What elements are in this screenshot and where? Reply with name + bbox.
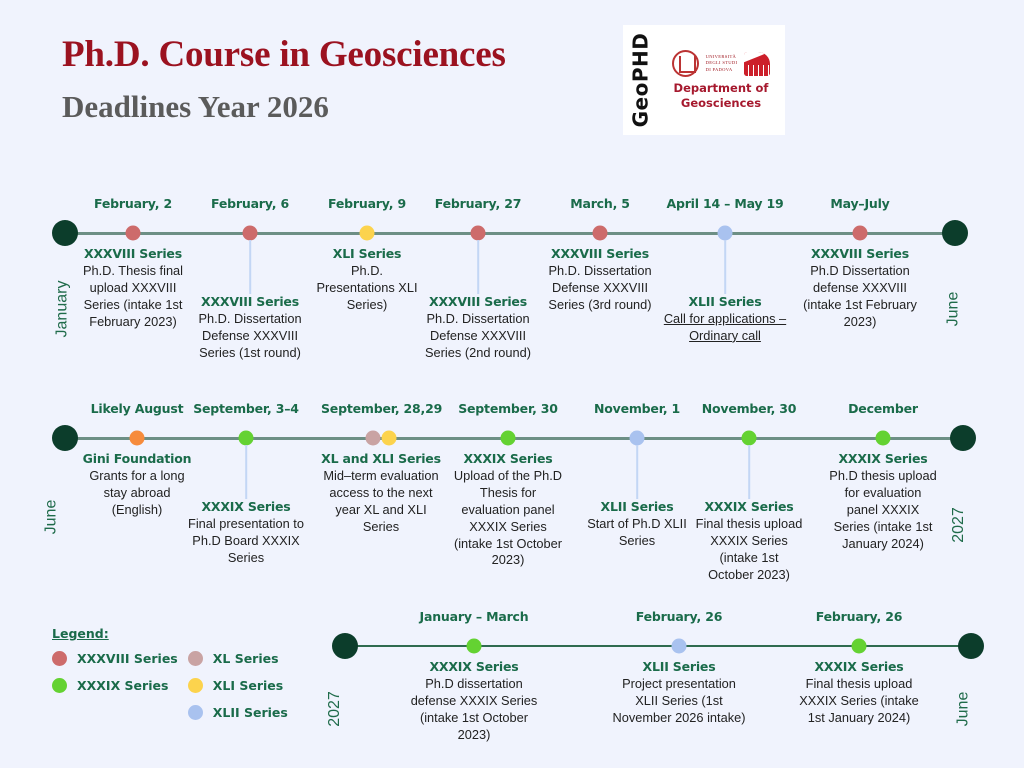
event-date-text: February, 9 xyxy=(313,196,421,211)
event-block: XXXIX SeriesFinal presentation to Ph.D B… xyxy=(182,499,310,567)
event-date-label: December xyxy=(828,401,938,416)
legend-column: XXXVIII SeriesXXXIX Series xyxy=(52,651,178,720)
timeline-dot[interactable] xyxy=(742,431,757,446)
timeline-start-marker xyxy=(52,220,78,246)
event-date-label: January – March xyxy=(407,609,541,624)
event-description: Grants for a long stay abroad (English) xyxy=(82,468,192,519)
event-series-label: XLI Series xyxy=(313,246,421,261)
legend-item-label: XL Series xyxy=(213,651,279,666)
event-connector-line xyxy=(748,445,750,499)
department-line-2: Geosciences xyxy=(674,96,769,110)
legend-column: XL SeriesXLI SeriesXLII Series xyxy=(188,651,288,720)
legend-swatch-xli xyxy=(188,678,203,693)
event-date-text: November, 30 xyxy=(695,401,803,416)
university-name-text: UNIVERSITÀ DEGLI STUDI DI PADOVA xyxy=(706,54,738,74)
event-block: Gini FoundationGrants for a long stay ab… xyxy=(82,451,192,519)
page-title: Ph.D. Course in Geosciences xyxy=(62,33,506,76)
event-series-label: XXXVIII Series xyxy=(545,246,655,261)
timeline-dot[interactable] xyxy=(876,431,891,446)
event-description: Ph.D. Thesis final upload XXXVIII Series… xyxy=(74,263,192,331)
event-date-text: September, 28,29 xyxy=(321,401,441,416)
event-block: XXXVIII SeriesPh.D. Dissertation Defense… xyxy=(419,294,537,362)
legend-title: Legend: xyxy=(52,626,322,641)
event-description: Upload of the Ph.D Thesis for evaluation… xyxy=(449,468,567,569)
timeline-dot[interactable] xyxy=(366,431,381,446)
legend-item[interactable]: XXXIX Series xyxy=(52,678,178,693)
event-description: Final thesis upload XXXIX Series (intake… xyxy=(791,676,927,727)
legend-item-label: XXXVIII Series xyxy=(77,651,178,666)
event-series-label: XXXIX Series xyxy=(828,451,938,466)
timeline-dot[interactable] xyxy=(672,639,687,654)
event-date-text: February, 26 xyxy=(791,609,927,624)
timeline-dot[interactable] xyxy=(360,226,375,241)
timeline-dot[interactable] xyxy=(130,431,145,446)
event-date-text: March, 5 xyxy=(545,196,655,211)
timeline-end-marker xyxy=(958,633,984,659)
event-series-label: Gini Foundation xyxy=(82,451,192,466)
event-date-text: September, 30 xyxy=(449,401,567,416)
event-date-label: February, 27 xyxy=(419,196,537,211)
event-date-text: Likely August xyxy=(82,401,192,416)
event-date-label: February, 9 xyxy=(313,196,421,211)
event-series-label: XLII Series xyxy=(663,294,788,309)
legend-item[interactable]: XLI Series xyxy=(188,678,288,693)
event-description: Final presentation to Ph.D Board XXXIX S… xyxy=(182,516,310,567)
event-date-text: February, 2 xyxy=(74,196,192,211)
timeline-start-marker xyxy=(52,425,78,451)
event-block: XLI SeriesPh.D. Presentations XLI Series… xyxy=(313,246,421,314)
event-date-label: February, 26 xyxy=(791,609,927,624)
event-series-label: XXXVIII Series xyxy=(191,294,309,309)
event-date-label: February, 26 xyxy=(609,609,749,624)
legend-swatch-xxxviii xyxy=(52,651,67,666)
event-date-text: February, 26 xyxy=(609,609,749,624)
event-series-label: XLII Series xyxy=(609,659,749,674)
event-block: XXXIX SeriesPh.D dissertation defense XX… xyxy=(407,659,541,744)
row-start-period-label: January xyxy=(53,281,71,338)
legend-item-label: XLII Series xyxy=(213,705,288,720)
event-description: Final thesis upload XXXIX Series (intake… xyxy=(695,516,803,584)
row-end-period-label: June xyxy=(944,292,962,327)
event-date-text: February, 6 xyxy=(191,196,309,211)
crest-row: UNIVERSITÀ DEGLI STUDI DI PADOVA xyxy=(672,50,771,77)
legend-item[interactable]: XL Series xyxy=(188,651,288,666)
timeline-dot[interactable] xyxy=(718,226,733,241)
timeline-dot[interactable] xyxy=(243,226,258,241)
event-date-label: September, 28,29 xyxy=(321,401,441,416)
timeline-axis xyxy=(65,232,955,235)
timeline-axis xyxy=(345,645,971,647)
event-series-label: XXXIX Series xyxy=(182,499,310,514)
timeline-dot[interactable] xyxy=(593,226,608,241)
event-series-label: XXXVIII Series xyxy=(74,246,192,261)
university-seal-icon xyxy=(672,50,699,77)
event-date-label: September, 3–4 xyxy=(182,401,310,416)
event-series-label: XL and XLI Series xyxy=(321,451,441,466)
legend-swatch-xl xyxy=(188,651,203,666)
timeline-start-marker xyxy=(332,633,358,659)
event-date-label: November, 30 xyxy=(695,401,803,416)
event-series-label: XXXVIII Series xyxy=(800,246,920,261)
event-date-text: May–July xyxy=(800,196,920,211)
timeline-dot[interactable] xyxy=(126,226,141,241)
event-block: XLII SeriesProject presentation XLII Ser… xyxy=(609,659,749,727)
event-description: Ph.D. Dissertation Defense XXXVIII Serie… xyxy=(419,311,537,362)
event-description: Ph.D. Dissertation Defense XXXVIII Serie… xyxy=(545,263,655,314)
event-date-text: November, 1 xyxy=(583,401,691,416)
event-date-label: April 14 – May 19 xyxy=(663,196,788,211)
event-description: Mid–term evaluation access to the next y… xyxy=(321,468,441,536)
row-end-period-label: June xyxy=(954,692,972,727)
timeline-dot[interactable] xyxy=(467,639,482,654)
legend-item-label: XXXIX Series xyxy=(77,678,168,693)
timeline-dot[interactable] xyxy=(501,431,516,446)
event-block: XXXIX SeriesFinal thesis upload XXXIX Se… xyxy=(695,499,803,584)
logo-card: GeoPHD UNIVERSITÀ DEGLI STUDI DI PADOVA … xyxy=(623,25,785,135)
event-series-label: XXXIX Series xyxy=(695,499,803,514)
department-emblem-icon xyxy=(744,52,770,76)
event-date-label: February, 2 xyxy=(74,196,192,211)
event-description: Ph.D. Presentations XLI Series) xyxy=(313,263,421,314)
row-end-period-label: 2027 xyxy=(950,507,968,543)
event-block: XLII Series Call for applications – Ordi… xyxy=(663,294,788,345)
event-connector-line xyxy=(249,240,251,294)
legend-item-label: XLI Series xyxy=(213,678,283,693)
event-block: XXXVIII SeriesPh.D. Dissertation Defense… xyxy=(545,246,655,314)
legend-item[interactable]: XLII Series xyxy=(188,705,288,720)
timeline-dot[interactable] xyxy=(630,431,645,446)
timeline-end-marker xyxy=(942,220,968,246)
event-description: Ph.D. Dissertation Defense XXXVIII Serie… xyxy=(191,311,309,362)
department-name: Department of Geosciences xyxy=(674,81,769,110)
event-connector-line xyxy=(245,445,247,499)
logo-right-group: UNIVERSITÀ DEGLI STUDI DI PADOVA Departm… xyxy=(657,25,785,135)
event-date-text: September, 3–4 xyxy=(182,401,310,416)
timeline-dot[interactable] xyxy=(471,226,486,241)
event-date-text: January – March xyxy=(407,609,541,624)
event-description: Ph.D Dissertation defense XXXVIII (intak… xyxy=(800,263,920,331)
event-series-label: XXXVIII Series xyxy=(419,294,537,309)
event-date-label: February, 6 xyxy=(191,196,309,211)
event-date-label: November, 1 xyxy=(583,401,691,416)
geophd-label: GeoPHD xyxy=(628,33,652,128)
legend-columns: XXXVIII SeriesXXXIX SeriesXL SeriesXLI S… xyxy=(52,651,322,720)
timeline-dot[interactable] xyxy=(853,226,868,241)
event-series-label: XXXIX Series xyxy=(449,451,567,466)
row-start-period-label: 2027 xyxy=(326,691,344,727)
event-block: XL and XLI SeriesMid–term evaluation acc… xyxy=(321,451,441,536)
event-description: Project presentation XLII Series (1st No… xyxy=(609,676,749,727)
event-description: Start of Ph.D XLII Series xyxy=(583,516,691,550)
event-connector-line xyxy=(724,240,726,294)
event-date-label: September, 30 xyxy=(449,401,567,416)
event-date-text: December xyxy=(828,401,938,416)
event-date-label: May–July xyxy=(800,196,920,211)
event-block: XXXVIII SeriesPh.D. Dissertation Defense… xyxy=(191,294,309,362)
page-subtitle: Deadlines Year 2026 xyxy=(62,89,329,125)
event-block: XXXVIII SeriesPh.D. Thesis final upload … xyxy=(74,246,192,331)
event-series-label: XXXIX Series xyxy=(791,659,927,674)
event-date-label: March, 5 xyxy=(545,196,655,211)
event-series-label: XXXIX Series xyxy=(407,659,541,674)
header: Ph.D. Course in Geosciences Deadlines Ye… xyxy=(0,0,1024,150)
legend-swatch-xxxix xyxy=(52,678,67,693)
event-block: XXXIX SeriesFinal thesis upload XXXIX Se… xyxy=(791,659,927,727)
event-date-text: April 14 – May 19 xyxy=(663,196,788,211)
event-description: Ph.D thesis upload for evaluation panel … xyxy=(828,468,938,552)
timeline-dot[interactable] xyxy=(239,431,254,446)
event-block: XXXIX SeriesUpload of the Ph.D Thesis fo… xyxy=(449,451,567,569)
geophd-vertical-logo: GeoPHD xyxy=(623,25,657,135)
legend-item[interactable]: XXXVIII Series xyxy=(52,651,178,666)
event-block: XXXVIII SeriesPh.D Dissertation defense … xyxy=(800,246,920,331)
timeline-dot[interactable] xyxy=(382,431,397,446)
timeline-end-marker xyxy=(950,425,976,451)
event-connector-line xyxy=(636,445,638,499)
event-connector-line xyxy=(477,240,479,294)
event-description: Call for applications – Ordinary call xyxy=(663,311,788,345)
legend: Legend: XXXVIII SeriesXXXIX SeriesXL Ser… xyxy=(52,626,322,720)
infographic-page: Ph.D. Course in Geosciences Deadlines Ye… xyxy=(0,0,1024,768)
event-block: XLII SeriesStart of Ph.D XLII Series xyxy=(583,499,691,550)
department-line-1: Department of xyxy=(674,81,769,95)
event-block: XXXIX SeriesPh.D thesis upload for evalu… xyxy=(828,451,938,552)
timeline-dot[interactable] xyxy=(852,639,867,654)
event-date-label: Likely August xyxy=(82,401,192,416)
event-series-label: XLII Series xyxy=(583,499,691,514)
row-start-period-label: June xyxy=(42,500,60,535)
legend-swatch-xlii xyxy=(188,705,203,720)
event-date-text: February, 27 xyxy=(419,196,537,211)
event-description: Ph.D dissertation defense XXXIX Series (… xyxy=(407,676,541,744)
